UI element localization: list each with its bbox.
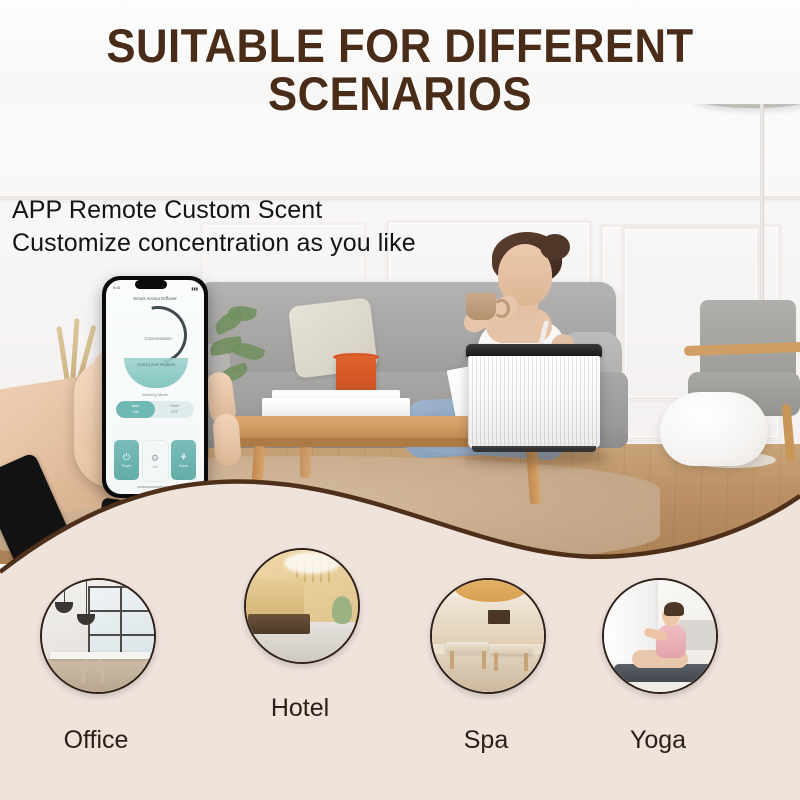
app-title: Smart Aroma Diffuser xyxy=(106,296,204,301)
bed-leg xyxy=(482,651,486,669)
window-mullion xyxy=(90,634,154,636)
bed-leg xyxy=(494,653,498,671)
segment-timer-state: OFF xyxy=(170,410,180,415)
bed-leg xyxy=(524,653,528,671)
scenario-label-office: Office xyxy=(40,726,152,755)
table-books xyxy=(262,398,410,418)
window-mullion xyxy=(90,610,154,612)
lamp-cord xyxy=(86,580,87,614)
scent-level-label: Scent Level Medium xyxy=(124,362,188,367)
scenario-circle-hotel[interactable] xyxy=(244,548,360,664)
overlay-line-1: APP Remote Custom Scent xyxy=(12,194,416,227)
woman-hair-bun xyxy=(540,234,570,260)
status-time: 9:41 xyxy=(113,285,121,290)
overlay-text-block: APP Remote Custom Scent Customize concen… xyxy=(12,194,416,260)
scenario-label-yoga: Yoga xyxy=(602,726,714,755)
gauge-value-label: Concentration xyxy=(129,336,187,341)
office-desk xyxy=(50,652,150,659)
office-floor xyxy=(42,659,154,692)
window-mullion xyxy=(120,588,122,660)
lamp-cord xyxy=(64,580,65,602)
overlay-line-2: Customize concentration as you like xyxy=(12,227,416,260)
concentration-gauge[interactable]: Concentration xyxy=(129,306,187,364)
chandelier xyxy=(284,552,340,574)
bed-leg xyxy=(450,651,454,669)
yoga-woman-hair xyxy=(664,602,684,616)
spa-art xyxy=(432,580,544,692)
hotel-art xyxy=(246,550,358,662)
device-body xyxy=(468,356,600,448)
product-marketing-image: 9:41 ▮▮▮ Smart Aroma Diffuser Concentrat… xyxy=(0,0,800,800)
office-art xyxy=(42,580,154,692)
spa-wall-art xyxy=(488,610,510,624)
status-icons: ▮▮▮ xyxy=(191,286,198,291)
segment-auto-state: ON xyxy=(132,410,140,415)
mode-section-label: Working Mode xyxy=(116,392,194,397)
scenario-circle-office[interactable] xyxy=(40,578,156,694)
hotel-plant xyxy=(332,596,352,624)
mug-handle xyxy=(493,299,510,318)
scenario-circle-spa[interactable] xyxy=(430,578,546,694)
yoga-woman-body xyxy=(656,624,686,658)
pendant-lamp xyxy=(55,602,73,613)
mode-segmented-control[interactable]: Auto ON Timer OFF xyxy=(116,401,194,418)
scenario-label-spa: Spa xyxy=(430,726,542,755)
dynamic-island xyxy=(135,280,167,289)
scenario-label-hotel: Hotel xyxy=(244,694,356,723)
aroma-diffuser-device xyxy=(466,344,602,454)
device-ribbed-texture xyxy=(468,356,600,448)
scenario-circle-yoga[interactable] xyxy=(602,578,718,694)
segment-auto-label: Auto xyxy=(132,404,140,409)
coffee-mug xyxy=(466,293,496,320)
segment-timer[interactable]: Timer OFF xyxy=(155,401,194,418)
yoga-art xyxy=(604,580,716,692)
segment-timer-label: Timer xyxy=(170,404,180,409)
segment-auto[interactable]: Auto ON xyxy=(116,401,155,418)
reception-desk xyxy=(248,614,310,634)
scent-level-indicator: Scent Level Medium xyxy=(124,358,188,388)
